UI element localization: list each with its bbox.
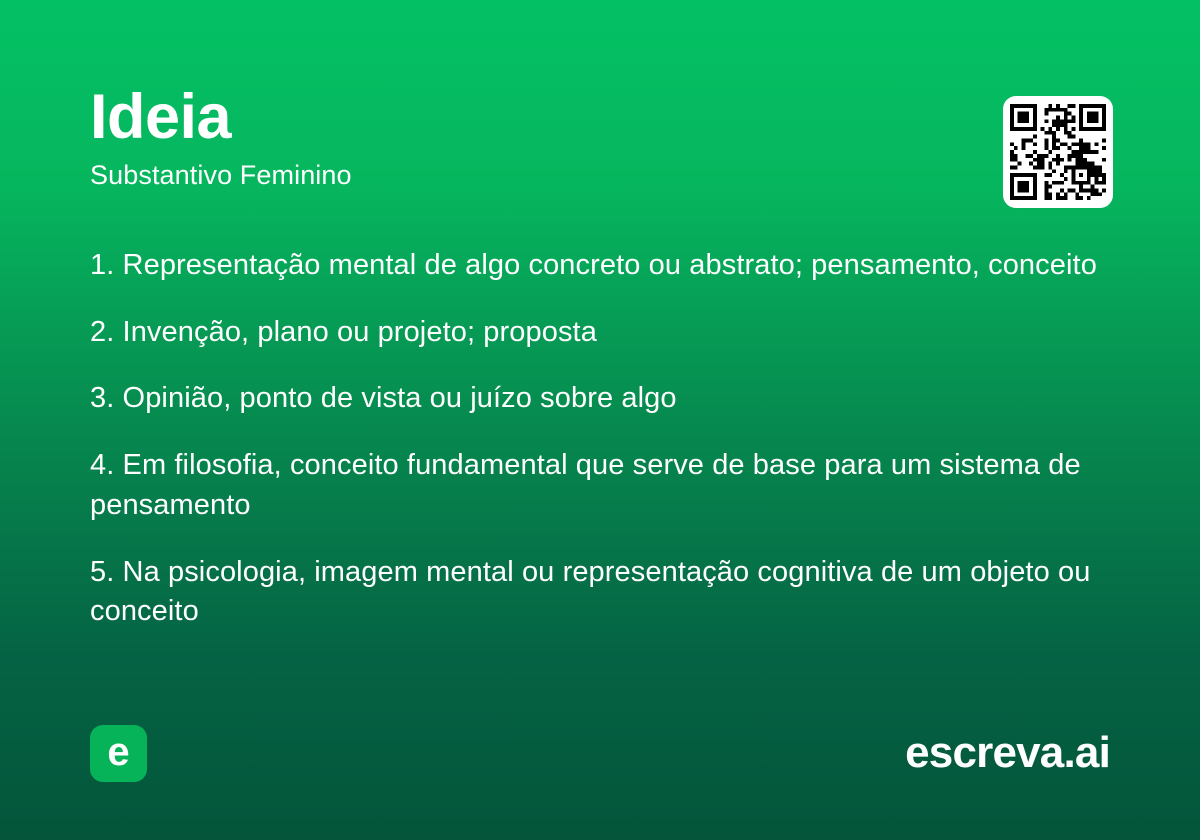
- definition-item: 2. Invenção, plano ou projeto; proposta: [90, 313, 1115, 353]
- definitions-list: 1. Representação mental de algo concreto…: [90, 246, 1115, 632]
- logo-letter: e: [107, 732, 129, 772]
- qr-code-container[interactable]: [1003, 96, 1113, 208]
- word-class-subtitle: Substantivo Feminino: [90, 161, 970, 191]
- definition-card: Ideia Substantivo Feminino 1. Representa…: [0, 0, 1200, 840]
- brand-wordmark: escreva.ai: [905, 731, 1110, 775]
- definition-item: 1. Representação mental de algo concreto…: [90, 246, 1115, 286]
- escreva-logo-icon[interactable]: e: [90, 725, 147, 782]
- card-header: Ideia Substantivo Feminino: [90, 86, 970, 191]
- qr-code-icon[interactable]: [1010, 104, 1106, 200]
- definition-item: 5. Na psicologia, imagem mental ou repre…: [90, 553, 1115, 632]
- definition-item: 4. Em filosofia, conceito fundamental qu…: [90, 446, 1115, 525]
- page-title: Ideia: [90, 86, 970, 149]
- definition-item: 3. Opinião, ponto de vista ou juízo sobr…: [90, 379, 1115, 419]
- card-footer: e escreva.ai: [90, 724, 1110, 782]
